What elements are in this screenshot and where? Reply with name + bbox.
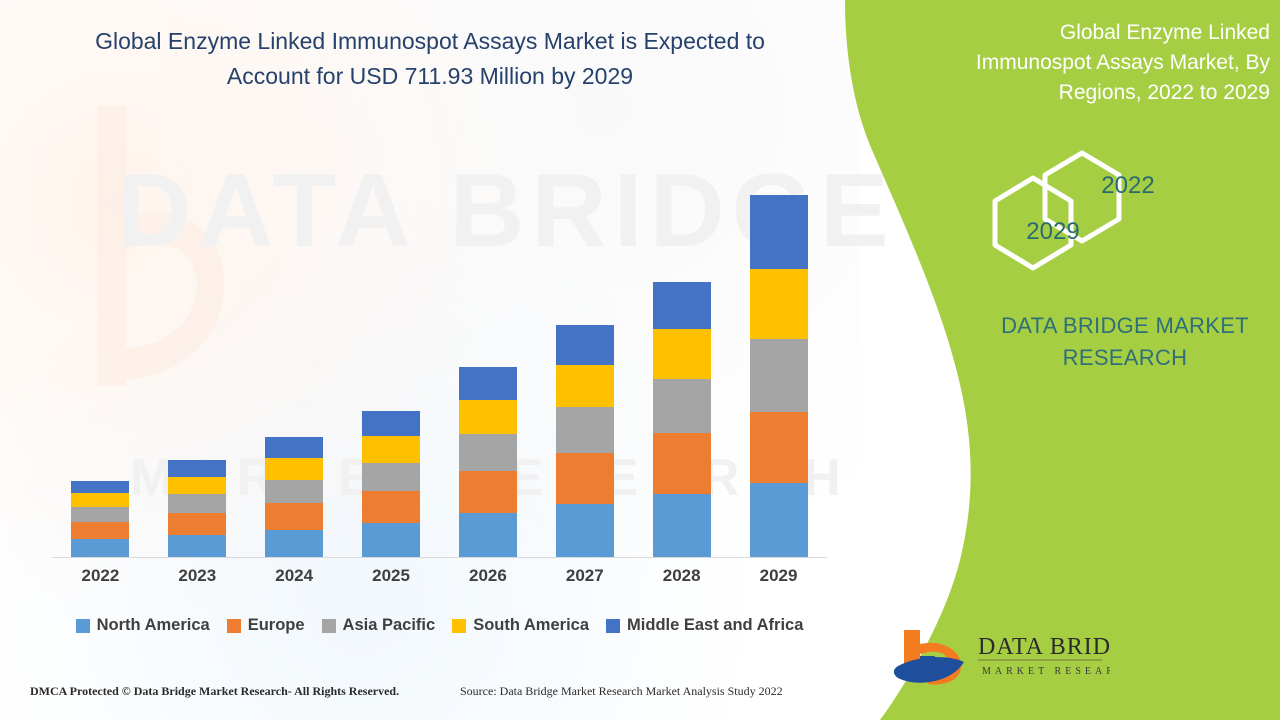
bar-segment xyxy=(653,379,711,433)
x-axis-tick-label: 2028 xyxy=(633,566,730,586)
bar-column xyxy=(730,170,827,557)
bar-segment xyxy=(459,513,517,557)
panel-title: Global Enzyme Linked Immunospot Assays M… xyxy=(970,18,1270,108)
logo-secondary-text: MARKET RESEARCH xyxy=(982,666,1110,677)
bar-segment xyxy=(653,433,711,494)
bar-column xyxy=(536,170,633,557)
bar-column xyxy=(246,170,343,557)
brand-name: DATA BRIDGE MARKET RESEARCH xyxy=(980,310,1270,374)
footer-copyright: DMCA Protected © Data Bridge Market Rese… xyxy=(30,684,399,699)
bar-segment xyxy=(459,471,517,513)
bar-segment xyxy=(362,436,420,462)
bar-segment xyxy=(459,367,517,400)
bar-segment xyxy=(653,494,711,557)
x-axis-tick-label: 2029 xyxy=(730,566,827,586)
legend-item[interactable]: North America xyxy=(76,616,210,635)
bar-column xyxy=(149,170,246,557)
legend-item[interactable]: Asia Pacific xyxy=(322,616,436,635)
legend-swatch-icon xyxy=(322,619,336,633)
stacked-bar xyxy=(71,481,129,557)
x-axis-tick-label: 2026 xyxy=(440,566,537,586)
bar-segment xyxy=(653,282,711,329)
bar-segment xyxy=(556,407,614,452)
bar-segment xyxy=(265,530,323,557)
bar-segment xyxy=(459,400,517,435)
bar-column xyxy=(52,170,149,557)
legend-item[interactable]: Middle East and Africa xyxy=(606,616,803,635)
bar-chart-plot xyxy=(52,170,827,557)
legend-label: Asia Pacific xyxy=(343,616,436,635)
x-axis-tick-label: 2027 xyxy=(536,566,633,586)
bar-column xyxy=(440,170,537,557)
stacked-bar xyxy=(362,411,420,557)
bar-segment xyxy=(362,491,420,523)
bar-segment xyxy=(71,493,129,507)
legend-label: North America xyxy=(97,616,210,635)
chart-legend: North AmericaEuropeAsia PacificSouth Ame… xyxy=(52,616,827,635)
x-axis-tick-label: 2024 xyxy=(246,566,343,586)
data-bridge-logo: DATA BRIDGE MARKET RESEARCH xyxy=(890,626,1110,688)
stacked-bar xyxy=(653,282,711,557)
logo-primary-text: DATA BRIDGE xyxy=(978,634,1110,660)
stacked-bar xyxy=(265,437,323,557)
footer: DMCA Protected © Data Bridge Market Rese… xyxy=(0,684,860,708)
x-axis-tick-label: 2025 xyxy=(343,566,440,586)
bar-segment xyxy=(750,483,808,557)
stacked-bar xyxy=(750,195,808,557)
x-axis-tick-label: 2023 xyxy=(149,566,246,586)
bar-segment xyxy=(265,480,323,503)
bar-segment xyxy=(750,195,808,269)
chart-title: Global Enzyme Linked Immunospot Assays M… xyxy=(70,24,790,94)
bar-segment xyxy=(362,523,420,557)
legend-item[interactable]: Europe xyxy=(227,616,305,635)
bar-segment xyxy=(265,437,323,458)
bar-segment xyxy=(556,365,614,407)
logo-b-icon xyxy=(894,630,964,685)
bar-segment xyxy=(556,453,614,504)
bar-segment xyxy=(265,458,323,480)
legend-item[interactable]: South America xyxy=(452,616,589,635)
bar-segment xyxy=(168,460,226,477)
hexagon-label-far: 2029 xyxy=(1018,218,1088,246)
x-axis-line xyxy=(52,557,827,558)
bar-segment xyxy=(556,325,614,365)
bar-segment xyxy=(556,504,614,557)
bar-segment xyxy=(653,329,711,379)
bar-segment xyxy=(362,463,420,492)
bar-segment xyxy=(71,522,129,539)
bar-segment xyxy=(750,269,808,339)
legend-label: South America xyxy=(473,616,589,635)
legend-swatch-icon xyxy=(452,619,466,633)
hexagon-label-near: 2022 xyxy=(1093,172,1163,200)
stacked-bar xyxy=(556,325,614,557)
x-axis-labels: 20222023202420252026202720282029 xyxy=(52,566,827,586)
bar-column xyxy=(633,170,730,557)
footer-source: Source: Data Bridge Market Research Mark… xyxy=(460,684,783,699)
stacked-bar xyxy=(459,367,517,557)
bar-segment xyxy=(71,481,129,494)
legend-swatch-icon xyxy=(76,619,90,633)
bar-segment xyxy=(168,494,226,513)
bar-segment xyxy=(168,513,226,534)
bar-segment xyxy=(71,539,129,557)
bar-segment xyxy=(750,412,808,482)
bar-segment xyxy=(459,434,517,471)
bar-segment xyxy=(168,535,226,557)
stacked-bar xyxy=(168,460,226,557)
bar-column xyxy=(343,170,440,557)
bar-segment xyxy=(362,411,420,436)
hexagon-badges xyxy=(985,143,1185,283)
bar-segment xyxy=(750,339,808,412)
bar-segment xyxy=(168,477,226,495)
chart-infographic: DATA BRIDGE MARKET RESEARCH Global Enzym… xyxy=(0,0,1280,720)
legend-swatch-icon xyxy=(227,619,241,633)
legend-label: Middle East and Africa xyxy=(627,616,803,635)
bar-segment xyxy=(265,503,323,529)
x-axis-tick-label: 2022 xyxy=(52,566,149,586)
bar-segment xyxy=(71,507,129,522)
legend-label: Europe xyxy=(248,616,305,635)
legend-swatch-icon xyxy=(606,619,620,633)
